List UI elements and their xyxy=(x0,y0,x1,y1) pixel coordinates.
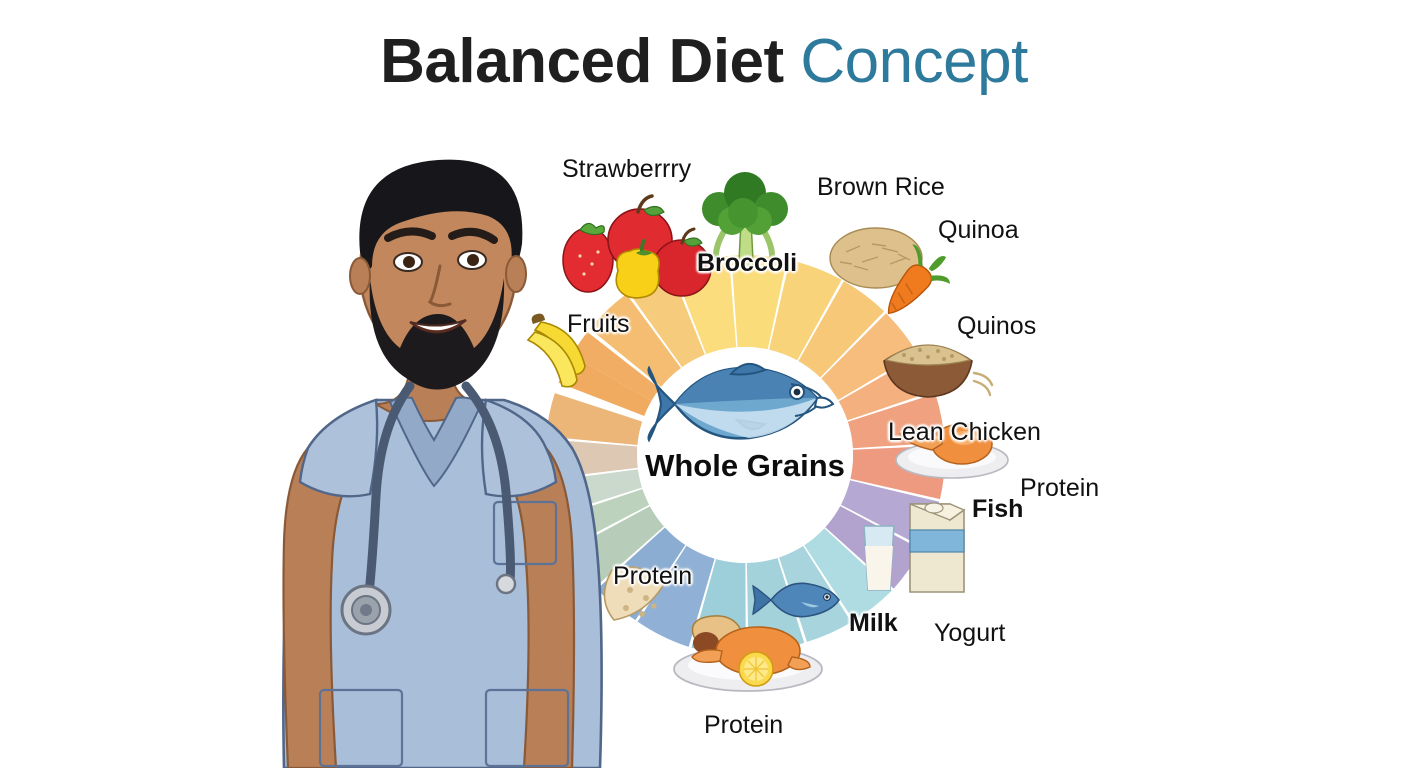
label-brown-rice: Brown Rice xyxy=(817,173,945,202)
left-sleeve xyxy=(300,400,377,496)
center-fish-icon xyxy=(645,358,845,450)
label-yogurt: Yogurt xyxy=(934,619,1005,648)
label-protein-right: Protein xyxy=(1020,474,1099,503)
label-lean-chicken: Lean Chicken xyxy=(888,418,1041,447)
label-milk: Milk xyxy=(849,609,898,638)
title-accent-text: Concept xyxy=(800,27,1027,96)
stethoscope-earpiece xyxy=(497,575,515,593)
right-ear xyxy=(506,256,526,292)
left-ear xyxy=(350,258,370,294)
canvas: Balanced Diet Concept xyxy=(0,0,1408,768)
label-fish: Fish xyxy=(972,495,1023,524)
title-main-text: Balanced Diet xyxy=(380,27,800,96)
label-protein-bottom: Protein xyxy=(704,711,783,740)
label-quinos: Quinos xyxy=(957,312,1036,341)
doctor-illustration xyxy=(250,110,650,768)
label-broccoli: Broccoli xyxy=(697,249,797,278)
label-quinoa: Quinoa xyxy=(938,216,1019,245)
page-title: Balanced Diet Concept xyxy=(0,26,1408,97)
